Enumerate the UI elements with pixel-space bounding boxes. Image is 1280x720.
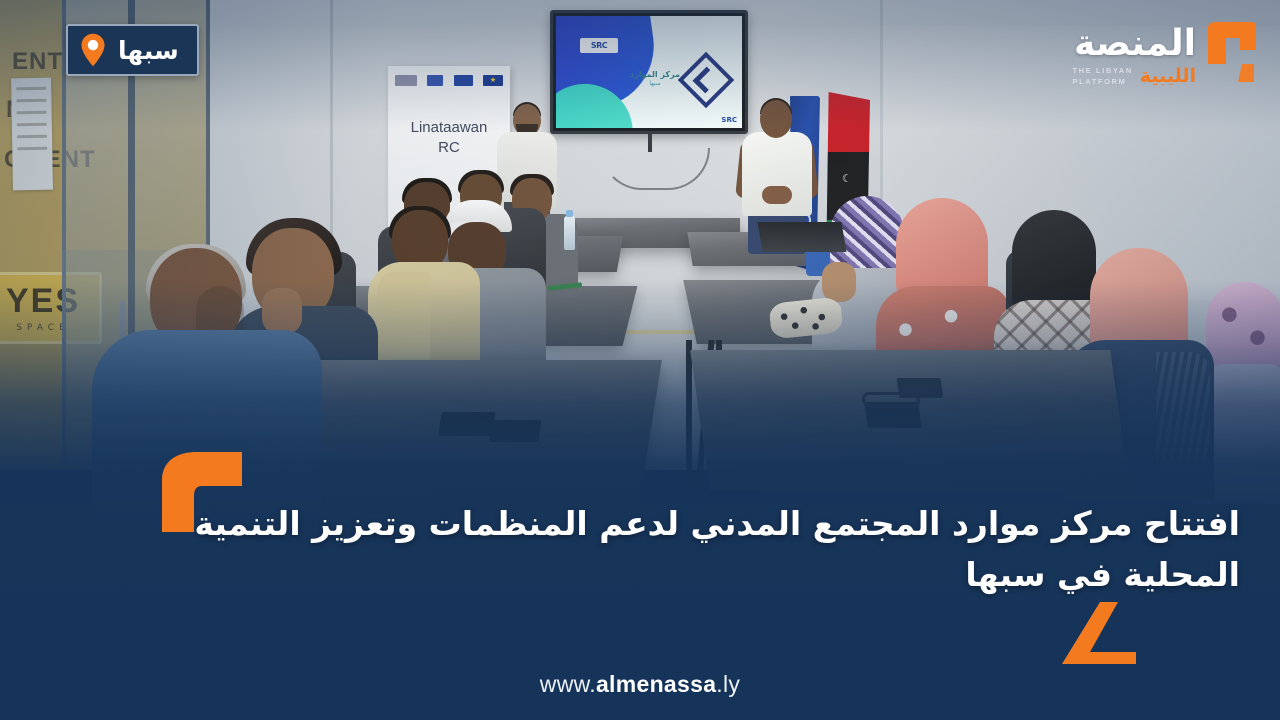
kufic-square-emblem-icon [678,52,735,109]
libya-flag-star-icon: ☾ [842,172,852,185]
attendee-left-2-hand [262,288,302,334]
url-prefix: www. [540,671,596,697]
banner-title: Linataawan RC [388,118,510,159]
wall-sign-fragment-1: ENT [12,48,63,76]
location-badge-label: سبها [118,38,179,63]
banner-title-line2: RC [388,138,510,158]
footer-website-url[interactable]: www.almenassa.ly [0,671,1280,698]
url-tld: .ly [716,671,740,697]
src-logo-icon [427,75,443,86]
eyeglasses [861,392,921,408]
secondary-logo-icon [454,75,473,86]
wall-mounted-tv: SRC مركز الموارد سبها SRC [550,10,748,134]
brand-subtitle-arabic: الليبية [1140,67,1196,86]
brand-subtitle-row: THE LIBYAN PLATFORM الليبية [1072,65,1196,88]
banner-title-line1: Linataawan [388,118,510,138]
attendee-right-4-sleeve [1156,352,1210,472]
phone-on-table-2 [488,420,541,442]
slide-footer-mark: SRC [721,116,737,124]
slide-arabic-title-block: مركز الموارد سبها [630,70,680,88]
wall-paper-notice [11,78,53,191]
orange-bracket-mark-icon [1202,20,1258,84]
banner-sponsor-logos: ★ [395,74,503,87]
brand-latin-line2: PLATFORM [1072,76,1132,87]
map-pin-icon [80,33,106,67]
eu-flag-icon: ★ [483,75,503,86]
url-domain-name: almenassa [596,671,716,697]
presenter-hands [762,186,792,204]
phone-on-table-1 [438,412,495,436]
location-badge[interactable]: سبها [66,24,199,76]
slide-org-mark: SRC [580,38,618,53]
presentation-slide: SRC مركز الموارد سبها SRC [556,16,742,128]
brand-latin-line1: THE LIBYAN [1072,65,1132,76]
partner-logo-icon [395,75,417,86]
attendee-right-1-hand [822,262,856,302]
water-bottle [564,216,575,250]
news-card: ENT MIC GMENT YES SPACE SRC مركز الموارد… [0,0,1280,720]
headline: افتتاح مركز موارد المجتمع المدني لدعم ال… [180,498,1240,600]
brand-logo[interactable]: المنصة THE LIBYAN PLATFORM الليبية [1072,16,1258,88]
brand-name-arabic: المنصة [1072,26,1196,62]
slide-org-mark-text: SRC [591,41,607,50]
slide-arabic-subtitle: سبها [630,80,680,88]
brand-name-latin: THE LIBYAN PLATFORM [1072,65,1132,88]
laptop [757,222,846,252]
slide-arabic-title: مركز الموارد [630,70,680,80]
quote-close-mark-icon [1056,600,1136,666]
presenter-head [760,100,792,138]
brand-wordmark: المنصة THE LIBYAN PLATFORM الليبية [1072,16,1196,88]
